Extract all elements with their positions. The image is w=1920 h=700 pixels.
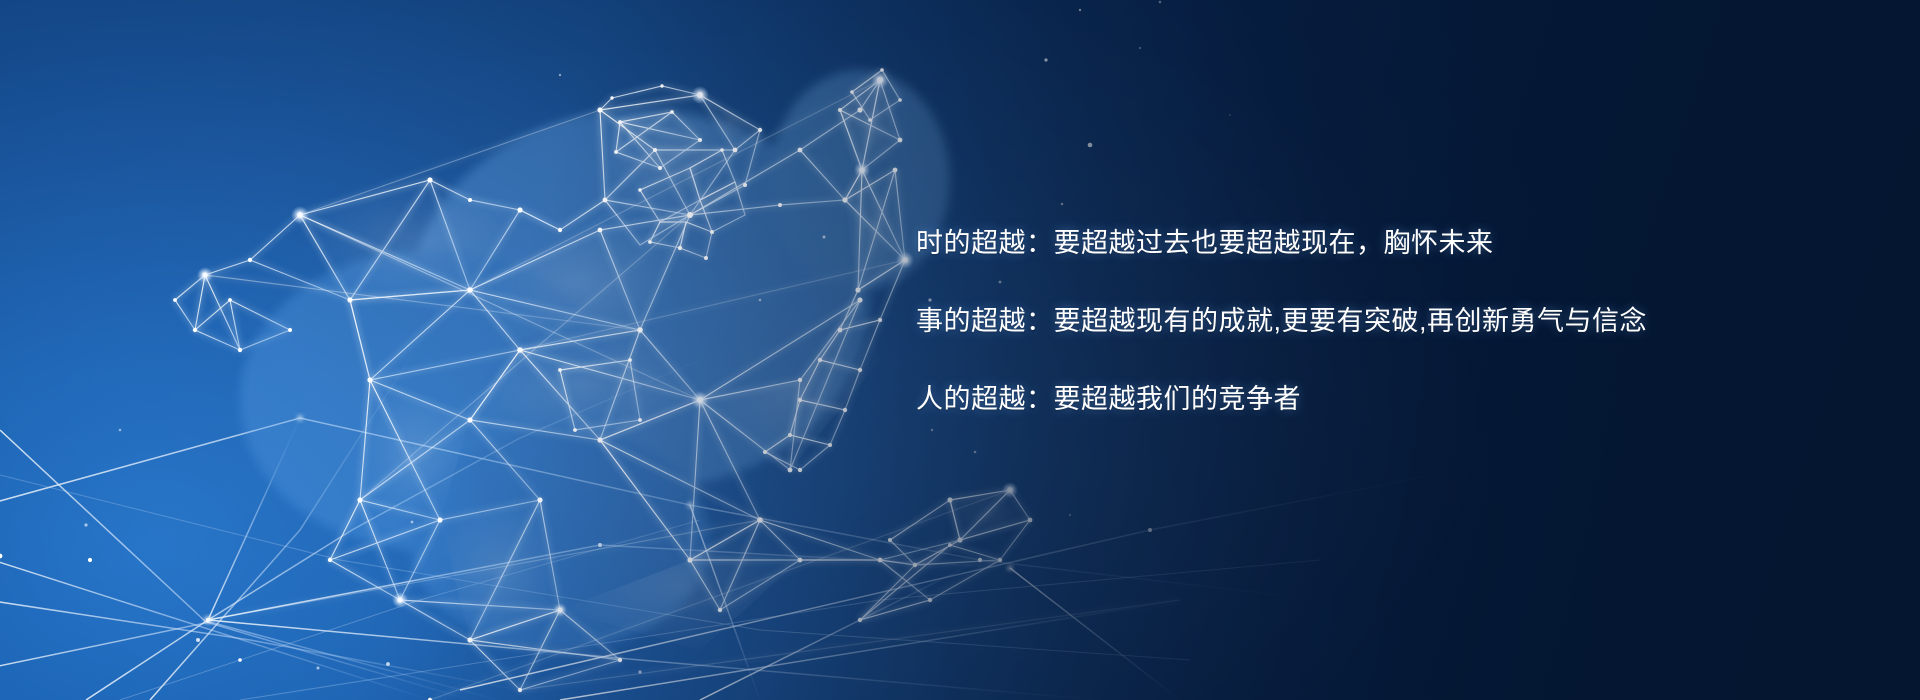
slogan-line-people: 人的超越：要超越我们的竞争者 bbox=[916, 386, 1836, 413]
slogan-line-matter: 事的超越：要超越现有的成就,更要有突破,再创新勇气与信念 bbox=[916, 308, 1836, 335]
slogan-text-block: 时的超越：要超越过去也要超越现在，胸怀未来 事的超越：要超越现有的成就,更要有突… bbox=[916, 230, 1836, 413]
slogan-line-time: 时的超越：要超越过去也要超越现在，胸怀未来 bbox=[916, 230, 1836, 257]
hero-banner: 时的超越：要超越过去也要超越现在，胸怀未来 事的超越：要超越现有的成就,更要有突… bbox=[0, 0, 1920, 700]
